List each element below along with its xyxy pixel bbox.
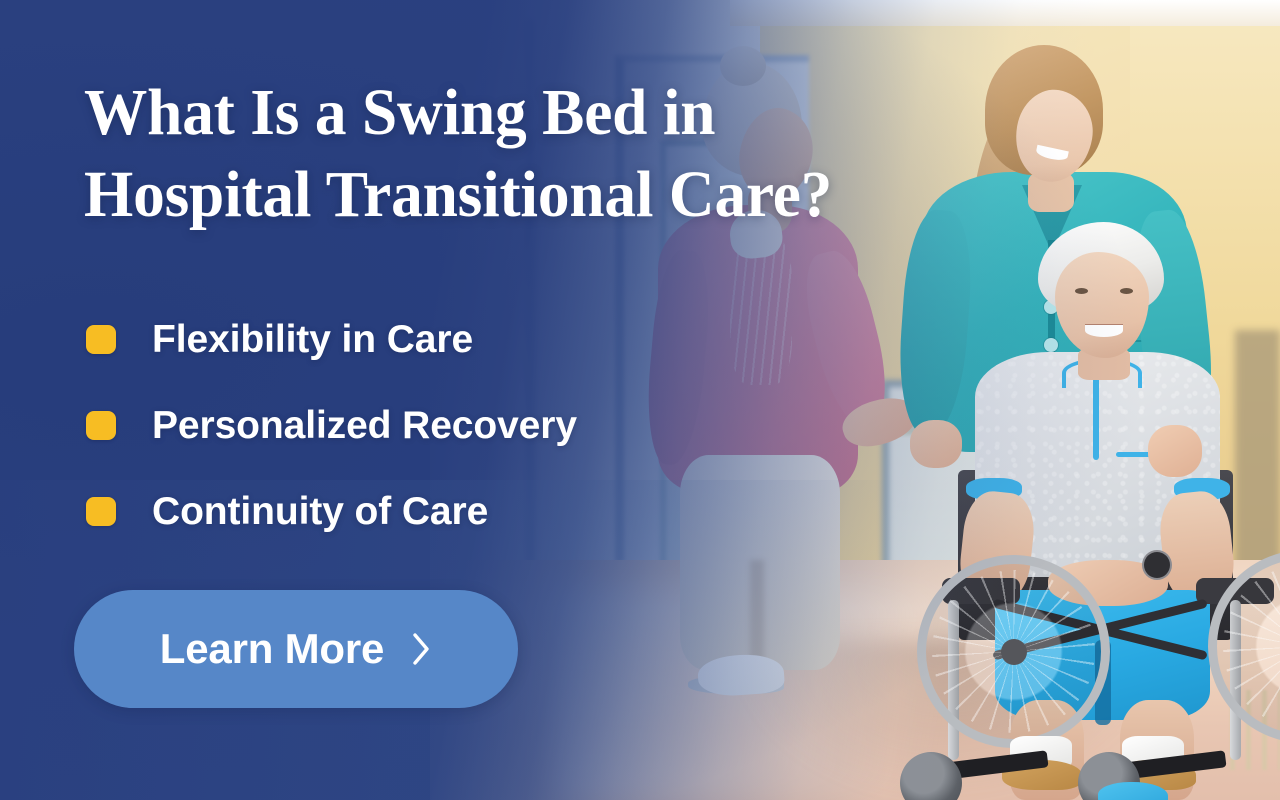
page-title: What Is a Swing Bed in Hospital Transiti…	[84, 72, 929, 236]
list-item: Continuity of Care	[86, 468, 706, 554]
learn-more-button[interactable]: Learn More	[74, 590, 518, 708]
list-item: Flexibility in Care	[86, 296, 706, 382]
chevron-right-icon	[410, 632, 432, 666]
banner-content: What Is a Swing Bed in Hospital Transiti…	[0, 0, 1280, 800]
square-bullet-icon	[86, 497, 116, 526]
square-bullet-icon	[86, 325, 116, 354]
feature-label: Flexibility in Care	[152, 320, 473, 359]
headline-line-1: What Is a Swing Bed in	[84, 76, 715, 149]
headline-line-2: Hospital Transitional Care?	[84, 154, 929, 236]
feature-label: Continuity of Care	[152, 492, 488, 531]
list-item: Personalized Recovery	[86, 382, 706, 468]
learn-more-label: Learn More	[160, 625, 384, 673]
square-bullet-icon	[86, 411, 116, 440]
swing-bed-hero-banner: What Is a Swing Bed in Hospital Transiti…	[0, 0, 1280, 800]
feature-label: Personalized Recovery	[152, 406, 577, 445]
feature-list: Flexibility in Care Personalized Recover…	[86, 296, 706, 554]
